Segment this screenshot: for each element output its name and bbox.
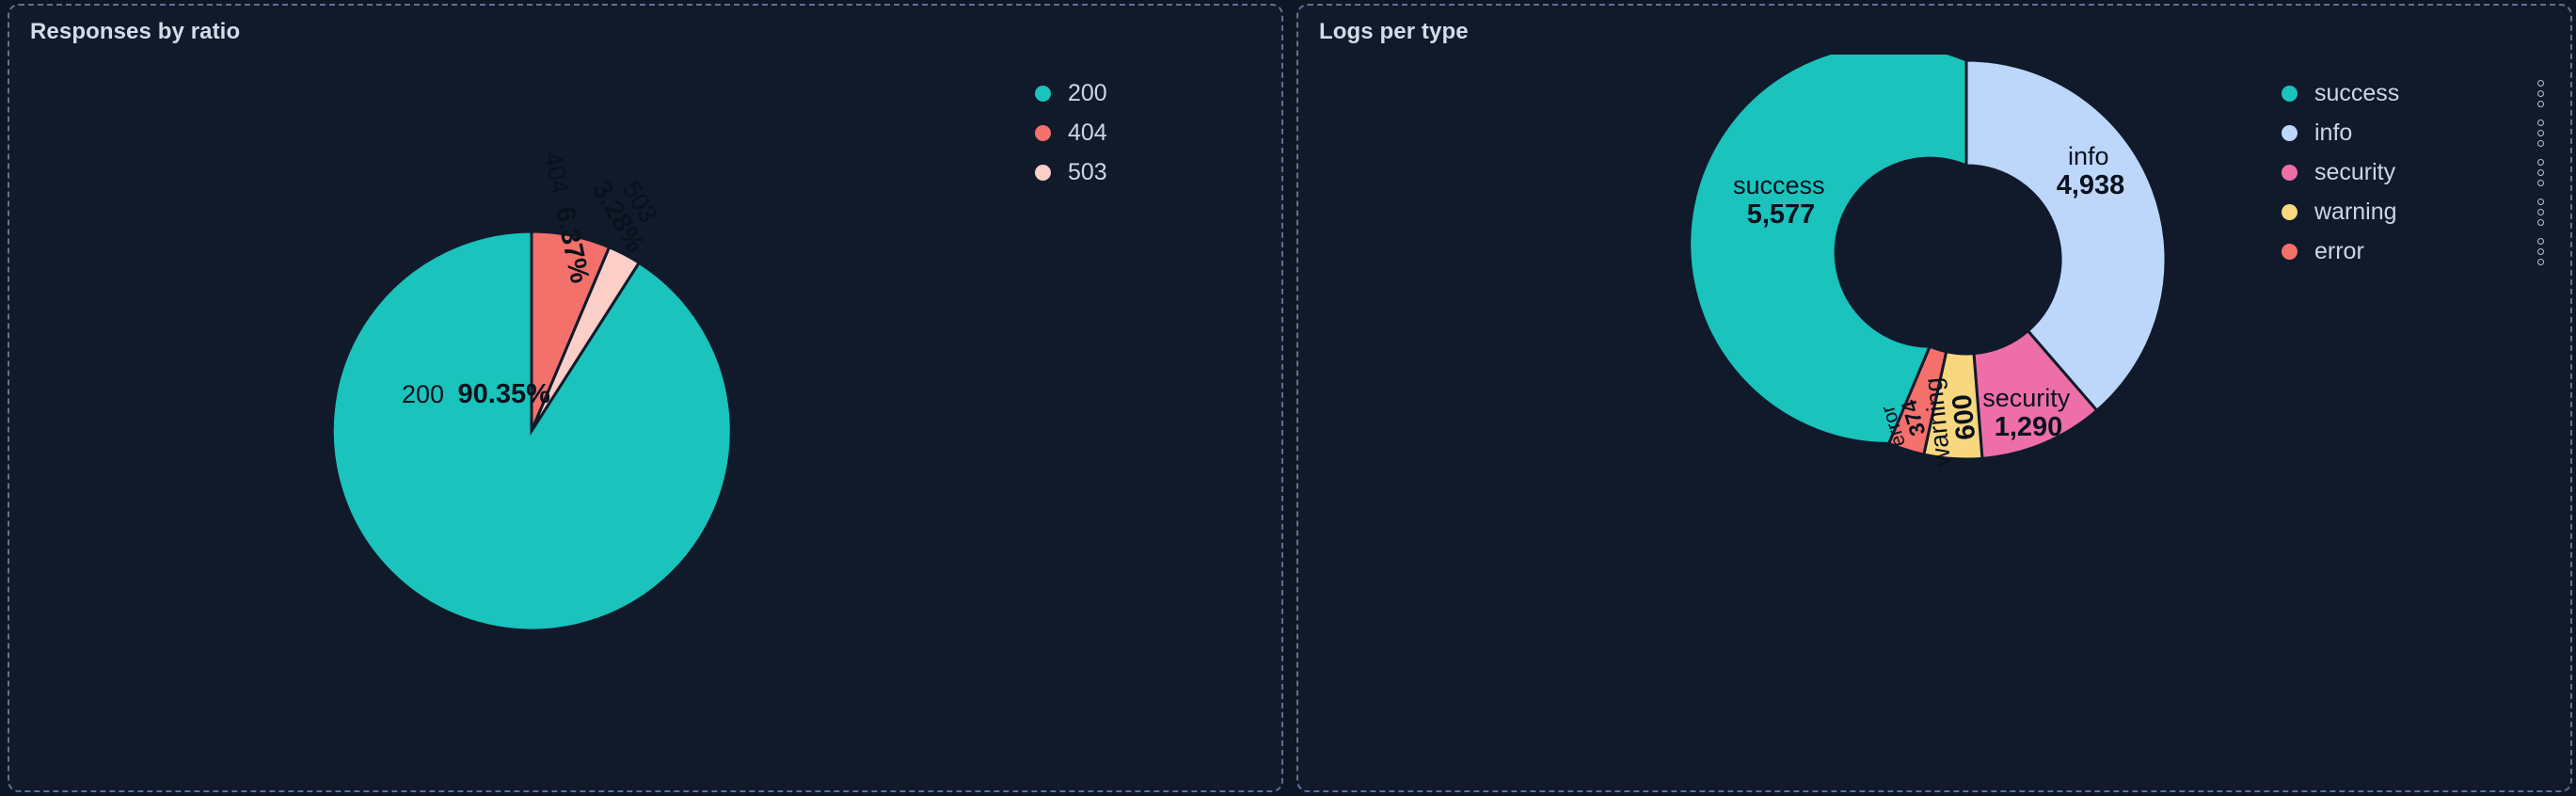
legend-color-swatch bbox=[2282, 165, 2298, 181]
pie-label-200-name: 200 bbox=[402, 380, 444, 408]
pie-slices bbox=[332, 231, 731, 630]
legend-item-label: error bbox=[2314, 238, 2530, 265]
pie-chart-svg: 200 90.35% 404 6.37% 503 3.28% bbox=[9, 55, 1044, 792]
legend-item[interactable]: warning bbox=[2282, 192, 2554, 231]
donut-chart-logs[interactable]: success 5,577 info 4,938 security 1,290 bbox=[1298, 55, 2570, 790]
pie-legend-responses: 200 404 503 bbox=[1035, 73, 1283, 192]
kebab-menu-icon[interactable] bbox=[2530, 235, 2551, 267]
pie-label-404-name: 404 bbox=[538, 150, 575, 197]
legend-color-swatch bbox=[1035, 125, 1051, 141]
kebab-menu-icon[interactable] bbox=[2530, 156, 2551, 188]
legend-item-label: success bbox=[2314, 80, 2530, 107]
legend-color-swatch bbox=[2282, 204, 2298, 220]
legend-item[interactable]: error bbox=[2282, 231, 2554, 271]
legend-item-label: 503 bbox=[1068, 159, 1283, 186]
legend-item-label: 200 bbox=[1068, 80, 1283, 107]
legend-item[interactable]: success bbox=[2282, 73, 2554, 113]
donut-label-security-value: 1,290 bbox=[1995, 412, 2063, 442]
donut-chart-svg: success 5,577 info 4,938 security 1,290 bbox=[1298, 55, 2333, 792]
donut-legend-logs: success info security bbox=[2282, 73, 2554, 271]
legend-color-swatch bbox=[2282, 86, 2298, 102]
dashboard-grid: Responses by ratio 200 bbox=[0, 0, 2576, 796]
legend-item[interactable]: 200 bbox=[1035, 73, 1283, 113]
pie-label-200: 200 90.35% bbox=[402, 379, 550, 409]
donut-label-success: success 5,577 bbox=[1733, 171, 1829, 230]
legend-item[interactable]: 503 bbox=[1035, 152, 1283, 192]
legend-color-swatch bbox=[1035, 86, 1051, 102]
donut-label-success-value: 5,577 bbox=[1747, 199, 1816, 230]
pie-chart-responses[interactable]: 200 90.35% 404 6.37% 503 3.28% bbox=[9, 55, 1281, 790]
panel-logs-per-type: Logs per type bbox=[1296, 4, 2572, 792]
donut-label-security-name: security bbox=[1982, 384, 2071, 412]
legend-color-swatch bbox=[1035, 165, 1051, 181]
panel-title: Responses by ratio bbox=[30, 19, 240, 45]
panel-body: success 5,577 info 4,938 security 1,290 bbox=[1298, 55, 2570, 790]
donut-label-warning-value: 600 bbox=[1947, 393, 1981, 441]
legend-item-label: info bbox=[2314, 119, 2530, 147]
donut-label-info-value: 4,938 bbox=[2057, 170, 2125, 200]
legend-item[interactable]: 404 bbox=[1035, 113, 1283, 152]
legend-color-swatch bbox=[2282, 125, 2298, 141]
panel-body: 200 90.35% 404 6.37% 503 3.28% bbox=[9, 55, 1281, 790]
panel-title: Logs per type bbox=[1319, 19, 1469, 45]
legend-item[interactable]: info bbox=[2282, 113, 2554, 152]
legend-color-swatch bbox=[2282, 244, 2298, 260]
panel-responses-by-ratio: Responses by ratio 200 bbox=[8, 4, 1283, 792]
donut-label-security: security 1,290 bbox=[1982, 384, 2074, 442]
donut-label-info-name: info bbox=[2068, 142, 2109, 170]
legend-item[interactable]: security bbox=[2282, 152, 2554, 192]
legend-item-label: warning bbox=[2314, 199, 2530, 226]
kebab-menu-icon[interactable] bbox=[2530, 117, 2551, 149]
donut-label-success-name: success bbox=[1733, 171, 1825, 199]
pie-label-200-value: 90.35% bbox=[458, 379, 551, 409]
kebab-menu-icon[interactable] bbox=[2530, 196, 2551, 228]
legend-item-label: 404 bbox=[1068, 119, 1283, 147]
kebab-menu-icon[interactable] bbox=[2530, 77, 2551, 109]
legend-item-label: security bbox=[2314, 159, 2530, 186]
